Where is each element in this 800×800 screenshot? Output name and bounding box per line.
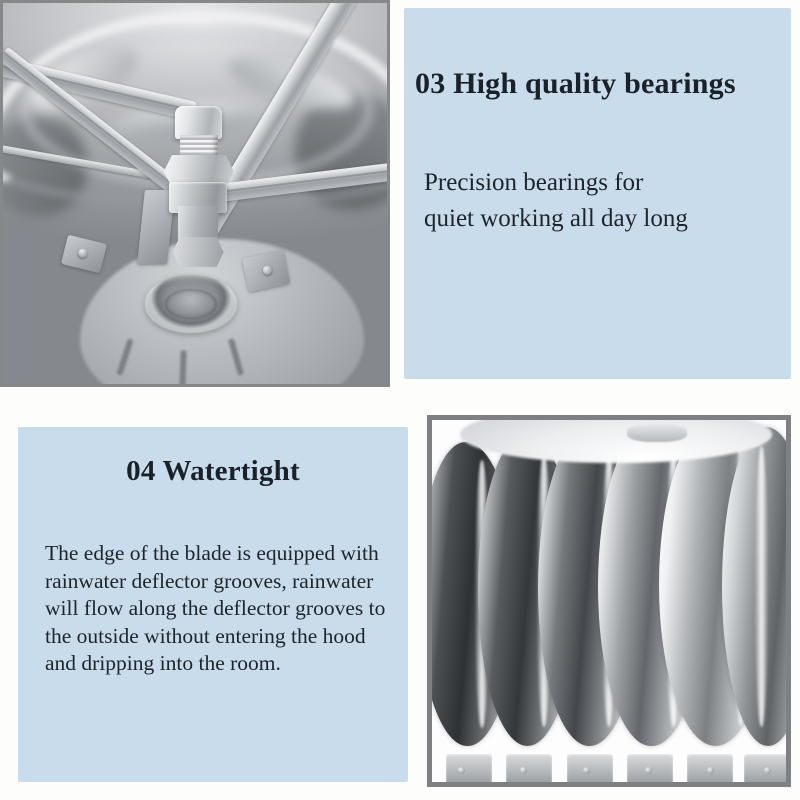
vane-base-6: [744, 754, 786, 782]
vane-base-3: [567, 754, 613, 782]
bearing-spindle-closeup-image: [0, 0, 390, 387]
feature-04-body: The edge of the blade is equipped with r…: [45, 540, 398, 678]
feature-03-heading: 03 High quality bearings: [415, 66, 736, 102]
screw-icon: [583, 767, 590, 774]
hub-slot-center: [179, 350, 186, 384]
feature-03-body: Precision bearings for quiet working all…: [424, 165, 688, 237]
feature-panel-04: 04 Watertight The edge of the blade is e…: [18, 427, 408, 782]
blades-photo-inner: [432, 420, 786, 782]
bearing-photo-inner: [3, 3, 387, 384]
rivet-icon: [262, 265, 273, 276]
vane-base-1: [446, 754, 492, 782]
screw-icon: [520, 767, 527, 774]
vane-base-2: [506, 754, 552, 782]
rivet-icon: [78, 248, 89, 259]
vane-base-5: [687, 754, 733, 782]
product-feature-collage: 03 High quality bearings Precision beari…: [0, 0, 800, 800]
screw-icon: [458, 767, 465, 774]
vane-base-4: [627, 754, 673, 782]
screw-icon: [764, 767, 771, 774]
feature-panel-03: 03 High quality bearings Precision beari…: [404, 8, 791, 379]
turbine-blades-closeup-image: [427, 415, 791, 787]
screw-icon: [645, 767, 652, 774]
feature-04-heading: 04 Watertight: [18, 453, 408, 489]
central-bolt-assembly: [162, 106, 235, 258]
hex-nut-lower: [173, 237, 224, 267]
screw-icon: [707, 767, 714, 774]
turbine-top-knob: [627, 424, 687, 442]
bearing-race: [145, 275, 237, 332]
